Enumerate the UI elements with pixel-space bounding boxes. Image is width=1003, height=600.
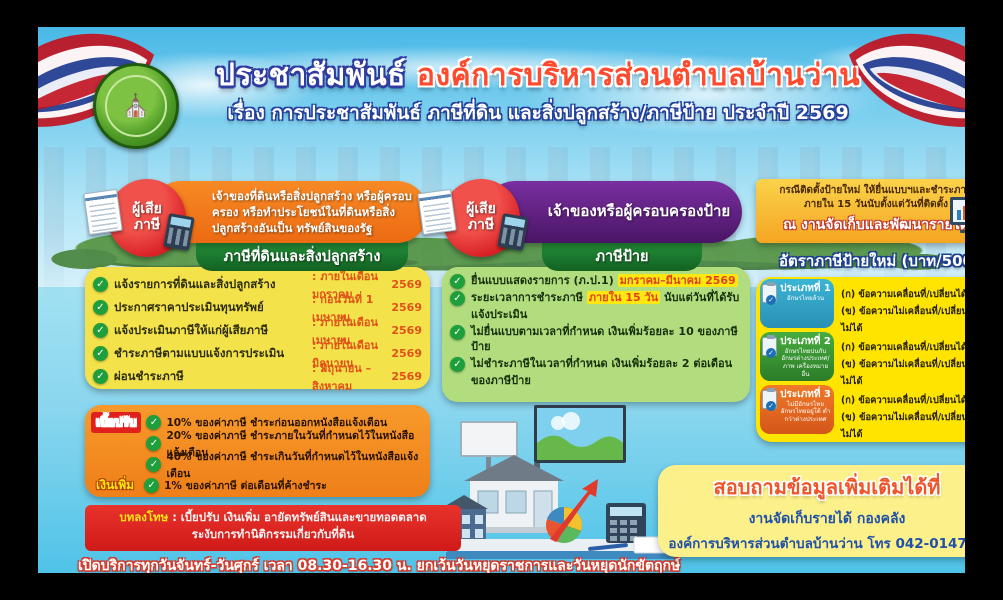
list-item-continuation: ของภาษีป้าย — [442, 373, 750, 390]
rule-text-pre: ระยะเวลาการชำระภาษี — [471, 291, 587, 304]
chart-monitor-icon — [948, 195, 965, 235]
check-icon: ✓ — [450, 274, 465, 289]
table-row: ประเภทที่ 1 อักษรไทยล้วน (ก) ข้อความเคลื… — [756, 277, 965, 330]
rate-item-text: (ก) ข้อความเคลื่อนที่/เปลี่ยนได้ — [841, 339, 965, 356]
emblem-inner: ⛪ — [105, 75, 167, 137]
rule-text: แจ้งประเมิน — [471, 308, 527, 323]
payer-sign-block: เจ้าของหรือผู้ครอบครองป้าย ภาษีป้าย ผู้เ… — [442, 179, 742, 269]
check-icon: ✓ — [93, 323, 108, 338]
calculator-icon — [497, 213, 529, 251]
list-item: ✓ ไม่ชำระภาษีในเวลาที่กำหนด เงินเพิ่มร้อ… — [442, 356, 750, 373]
check-icon: ✓ — [93, 277, 108, 292]
title-part-1: ประชาสัมพันธ์ — [216, 58, 406, 93]
check-icon: ✓ — [450, 325, 465, 340]
check-icon: ✓ — [146, 436, 161, 451]
rule-text: ไม่ยื่นแบบตามเวลาที่กำหนด เงินเพิ่มร้อยล… — [471, 325, 742, 355]
rule-text: ไม่ชำระภาษีในเวลาที่กำหนด เงินเพิ่มร้อยล… — [471, 357, 732, 372]
new-sign-notice-box: กรณีติดตั้งป้ายใหม่ ให้ยื่นแบบฯและชำระภา… — [756, 179, 965, 243]
sign-tax-rules-card: ✓ ยื่นแบบแสดงรายการ (ภ.ป.1) มกราคม–มีนาค… — [442, 267, 750, 402]
list-item: ✓ ระยะเวลาการชำระภาษี ภายใน 15 วัน นับแต… — [442, 290, 750, 307]
title-part-2: องค์การบริหารส่วนตำบลบ้านว่าน — [417, 58, 860, 93]
rule-text: ยื่นแบบแสดงรายการ (ภ.ป.1) มกราคม–มีนาคม … — [471, 274, 738, 289]
check-icon: ✓ — [450, 291, 465, 306]
schedule-label: ชำระภาษีตามแบบแจ้งการประเมิน — [114, 345, 306, 363]
category-tab-land: ภาษีที่ดินและสิ่งปลูกสร้าง — [196, 241, 408, 271]
payer-sign-description: เจ้าของหรือผู้ครอบครองป้าย — [548, 201, 730, 222]
penalty-text: 1% ของค่าภาษี ต่อเดือนที่ค้างชำระ — [164, 477, 327, 494]
document-icon — [83, 189, 123, 235]
clipboard-check-icon — [762, 284, 777, 303]
payer-land-badge-line2: ภาษี — [134, 218, 160, 234]
schedule-label: แจ้งรายการที่ดินและสิ่งปลูกสร้าง — [114, 276, 306, 294]
rule-highlight: มกราคม–มีนาคม 2569 — [618, 274, 738, 287]
rule-text-post: นับแต่วันที่ได้รับ — [660, 291, 739, 304]
rate-type-name: ประเภทที่ 3 — [780, 389, 831, 401]
title-line: ประชาสัมพันธ์ องค์การบริหารส่วนตำบลบ้านว… — [188, 59, 888, 94]
rule-highlight: ภายใน 15 วัน — [587, 291, 660, 304]
notice-line-1: กรณีติดตั้งป้ายใหม่ ให้ยื่นแบบฯและชำระภา… — [756, 184, 965, 198]
clipboard-check-icon — [762, 390, 777, 409]
criminal-penalty-text: : เบี้ยปรับ เงินเพิ่ม อายัดทรัพย์สินและข… — [168, 510, 426, 524]
criminal-penalty-line-1: บทลงโทษ : เบี้ยปรับ เงินเพิ่ม อายัดทรัพย… — [93, 509, 453, 526]
check-icon: ✓ — [93, 300, 108, 315]
criminal-penalty-tag: บทลงโทษ — [119, 510, 168, 524]
schedule-year: 2569 — [391, 347, 422, 360]
contact-org-phone: องค์การบริหารส่วนตำบลบ้านว่าน โทร 042-01… — [658, 532, 965, 554]
penalty-card: เบี้ยปรับ ✓ 10% ของค่าภาษี ชำระก่อนออกหน… — [85, 405, 430, 497]
payer-sign-badge-line2: ภาษี — [468, 218, 494, 234]
rate-type-sub: อักษรไทยล้วน — [780, 295, 831, 303]
rate-item-text: (ก) ข้อความเคลื่อนที่/เปลี่ยนได้ — [841, 286, 965, 303]
list-item: เบี้ยปรับ ✓ 40% ของค่าภาษี ชำระเกินวันที… — [85, 454, 430, 475]
rate-type-name: ประเภทที่ 1 — [780, 283, 831, 295]
contact-heading: สอบถามข้อมูลเพิ่มเติมได้ที่ — [658, 471, 965, 503]
rate-type-name: ประเภทที่ 2 — [780, 336, 831, 348]
notice-line-3: ณ งานจัดเก็บและพัฒนารายได้ — [756, 214, 965, 236]
payer-land-badge-line1: ผู้เสีย — [132, 202, 162, 218]
rate-item-cell: (ก) ข้อความเคลื่อนที่/เปลี่ยนได้ (ข) ข้อ… — [834, 332, 965, 381]
rate-item-text: (ข) ข้อความไม่เคลื่อนที่/เปลี่ยนไม่ได้ — [841, 409, 965, 443]
penalty-fine-tag: เบี้ยปรับ — [91, 412, 141, 433]
category-tab-sign-label: ภาษีป้าย — [595, 245, 648, 268]
rate-type-sub: อักษรไทยปนกับ อักษรต่างประเทศ/ภาพ เครื่อ… — [780, 348, 831, 380]
payer-land-block: เจ้าของที่ดินหรือสิ่งปลูกสร้าง หรือผู้คร… — [108, 179, 428, 269]
schedule-year: 2569 — [391, 370, 422, 383]
schedule-label: ประกาศราคาประเมินทุนทรัพย์ — [114, 299, 306, 317]
check-icon: ✓ — [144, 478, 159, 493]
table-row: ประเภทที่ 3 ไม่มีอักษรไทย อักษรไทยอยู่ใต… — [756, 383, 965, 436]
check-icon: ✓ — [450, 357, 465, 372]
schedule-year: 2569 — [391, 324, 422, 337]
criminal-penalty-line-2: ระงับการทำนิติกรรมเกี่ยวกับที่ดิน — [93, 526, 453, 543]
rate-item-cell: (ก) ข้อความเคลื่อนที่/เปลี่ยนได้ (ข) ข้อ… — [834, 279, 965, 328]
penalty-surcharge-tag: เงินเพิ่ม — [91, 475, 139, 496]
schedule-label: แจ้งประเมินภาษีให้แก่ผู้เสียภาษี — [114, 322, 306, 340]
rate-type-cell: ประเภทที่ 3 ไม่มีอักษรไทย อักษรไทยอยู่ใต… — [760, 385, 834, 434]
list-item: ✓ ไม่ยื่นแบบตามเวลาที่กำหนด เงินเพิ่มร้อ… — [442, 324, 750, 356]
land-tax-schedule-card: ✓ แจ้งรายการที่ดินและสิ่งปลูกสร้าง : ภาย… — [85, 267, 430, 389]
category-tab-land-label: ภาษีที่ดินและสิ่งปลูกสร้าง — [224, 245, 381, 268]
contact-office: งานจัดเก็บรายได้ กองคลัง — [658, 508, 965, 530]
land-tax-schedule-rows: ✓ แจ้งรายการที่ดินและสิ่งปลูกสร้าง : ภาย… — [85, 267, 430, 388]
schedule-year: 2569 — [391, 278, 422, 291]
list-item-continuation: แจ้งประเมิน — [442, 307, 750, 324]
penalty-tag-spacer: เบี้ยปรับ — [91, 433, 141, 454]
rule-text: ระยะเวลาการชำระภาษี ภายใน 15 วัน นับแต่ว… — [471, 291, 739, 306]
criminal-penalty-bar: บทลงโทษ : เบี้ยปรับ เงินเพิ่ม อายัดทรัพย… — [85, 505, 461, 551]
payer-sign-badge-line1: ผู้เสีย — [466, 202, 496, 218]
check-icon: ✓ — [146, 415, 161, 430]
schedule-date: : มิถุนายน – สิงหาคม — [312, 359, 385, 395]
rule-text-pre: ยื่นแบบแสดงรายการ (ภ.ป.1) — [471, 274, 618, 287]
rate-item-text: (ก) ข้อความเคลื่อนที่/เปลี่ยนได้ — [841, 392, 965, 409]
clipboard-check-icon — [762, 337, 777, 356]
payer-land-description: เจ้าของที่ดินหรือสิ่งปลูกสร้าง หรือผู้คร… — [212, 188, 416, 237]
notice-line-2: ภายใน 15 วันนับตั้งแต่วันที่ติดตั้ง — [756, 198, 965, 212]
contact-card: สอบถามข้อมูลเพิ่มเติมได้ที่ งานจัดเก็บรา… — [658, 465, 965, 557]
subtitle: เรื่อง การประชาสัมพันธ์ ภาษีที่ดิน และสิ… — [188, 98, 888, 128]
rule-text: ของภาษีป้าย — [471, 374, 531, 389]
check-icon: ✓ — [146, 457, 161, 472]
rate-type-cell: ประเภทที่ 1 อักษรไทยล้วน — [760, 279, 834, 328]
rate-type-sub: ไม่มีอักษรไทย อักษรไทยอยู่ใต้ ต่ำกว่าต่า… — [780, 401, 831, 425]
check-icon: ✓ — [93, 346, 108, 361]
organization-emblem: ⛪ — [93, 63, 179, 149]
check-icon: ✓ — [93, 369, 108, 384]
sign-tax-rate-table: ประเภทที่ 1 อักษรไทยล้วน (ก) ข้อความเคลื… — [756, 277, 965, 442]
page-title: ประชาสัมพันธ์ องค์การบริหารส่วนตำบลบ้านว… — [188, 59, 888, 128]
schedule-year: 2569 — [391, 301, 422, 314]
schedule-label: ผ่อนชำระภาษี — [114, 368, 306, 386]
poster-canvas: ⛪ ประชาสัมพันธ์ องค์การบริหารส่วนตำบลบ้า… — [38, 27, 965, 573]
category-tab-sign: ภาษีป้าย — [542, 241, 702, 271]
service-hours-text: เปิดบริการทุกวันจันทร์-วันศุกร์ เวลา 08.… — [78, 555, 638, 573]
rate-item-cell: (ก) ข้อความเคลื่อนที่/เปลี่ยนได้ (ข) ข้อ… — [834, 385, 965, 434]
table-row: ✓ ผ่อนชำระภาษี : มิถุนายน – สิงหาคม 2569 — [85, 365, 430, 388]
table-row: ประเภทที่ 2 อักษรไทยปนกับ อักษรต่างประเท… — [756, 330, 965, 383]
list-item: ✓ ยื่นแบบแสดงรายการ (ภ.ป.1) มกราคม–มีนาค… — [442, 273, 750, 290]
penalty-tag-spacer: เบี้ยปรับ — [91, 454, 141, 475]
document-icon — [417, 189, 457, 235]
rate-type-cell: ประเภทที่ 2 อักษรไทยปนกับ อักษรต่างประเท… — [760, 332, 834, 381]
calculator-icon — [163, 213, 195, 251]
